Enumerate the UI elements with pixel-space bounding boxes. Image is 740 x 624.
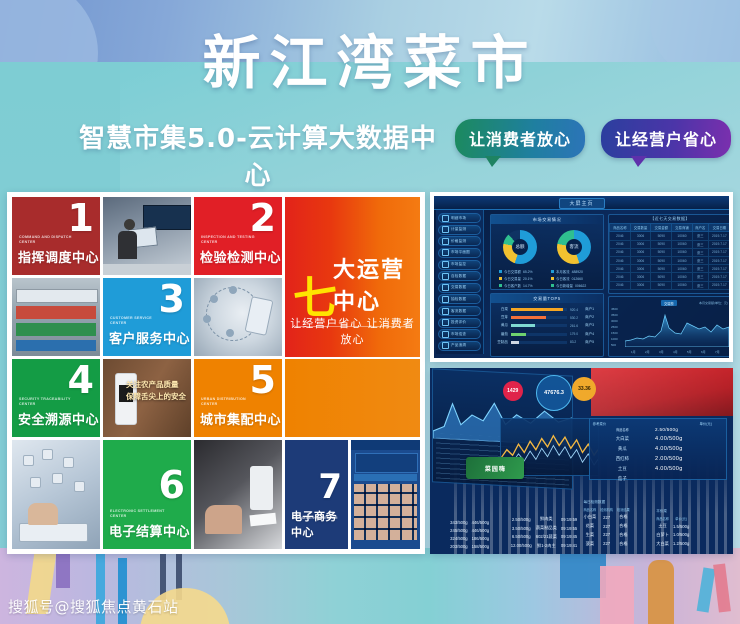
sidebar-label: 客流数据 [451,309,466,314]
reference-price-panel: 参考菜价 单价(元) 商品名称 2.50/500g 大白菜 4.00/500g … [589,418,727,480]
table-row: 花菜227合格 [582,522,632,531]
bar-row: 番茄 179.0 商户4 [495,332,599,337]
cell: 张三 [692,248,708,256]
cell: 合格 [615,530,632,539]
center-number: 1 [68,199,94,237]
cell: 3006 [630,240,651,248]
sidebar-item-patrol[interactable]: 市场巡查 [438,329,481,339]
cell: 张三 [692,265,708,273]
bar-row: 豆芽 530.2 商户2 [495,315,599,320]
cell: 菠菜 [582,539,599,548]
dashboard-screen-top: 大屏主页 明细市场 计量监测 价格监测 市场平面图 市场监控 自检数据 交易数据… [434,196,729,358]
table-row: 20463006509010060张三2019.7.17 [610,248,730,256]
bar-name: 黄瓜 [495,323,508,328]
bar-user: 商户5 [585,340,599,345]
bar-row: 黄瓜 261.6 商户3 [495,323,599,328]
sidebar-item-floorplan[interactable]: 市场平面图 [438,248,481,258]
y-tick: 3000 [611,319,618,323]
price-panel-header: 参考菜价 [593,421,607,426]
bar-user: 商户2 [585,315,599,320]
center-card-5[interactable]: 5 URBAN DISTRIBUTION CENTER 城市集配中心 [194,359,282,437]
table-header-row: 商品名称 检测机构 检测结果 [582,506,632,513]
table-row: 20463006509010060张三2019.7.17 [610,256,730,264]
price-row: 黄瓜 4.00/500g [590,446,726,452]
cell: 3006 [630,265,651,273]
legend-entry: 今日客户数14.7% [499,283,533,288]
center-number: 6 [159,466,185,504]
avatar-node [30,477,41,488]
page-subtitle: 智慧市集5.0-云计算大数据中心 [72,118,444,192]
sidebar-label: 明细市场 [451,216,466,221]
price-value: 4.00/500g [655,466,726,472]
sidebar-item-selftest[interactable]: 自检数据 [438,271,481,281]
sidebar-item-measure[interactable]: 计量监测 [438,225,481,235]
area-series [625,315,729,347]
center-subtitle-en: COMMAND AND DISPATCH CENTER [19,235,77,245]
table-header: 商品名称 [582,506,599,513]
cell: 3006 [630,273,651,281]
bar-user: 商户3 [585,323,599,328]
table-header-row: 商品名称 单价(元) [654,515,691,522]
page-title: 新江湾菜市 [0,16,740,100]
cell: 1.0/500g [671,530,691,539]
cell: 鲜肉类 [534,515,559,524]
pie-panel: 市场交易情况 总额 客流 今日交易额65.2% 今日交易量20.1% 今日客户数… [490,214,604,290]
cell: 186/500g [470,534,491,542]
legend-value: 65.2% [523,270,533,274]
price-header-row: 商品名称 2.50/500g [590,427,726,432]
avatar-node [74,481,85,492]
area-chart-tag: 交易额 [661,300,677,306]
sidebar-item-surveillance[interactable]: 市场监控 [438,260,481,270]
legend-left: 今日交易额65.2% 今日交易量20.1% 今日客户数14.7% [499,269,533,288]
table-row: 3.50/500g蔬菜制品类09:19:55 [509,524,579,533]
cell: 白萝卜 [654,530,671,539]
legend-value: 012660 [572,277,583,281]
price-row: 土豆 4.00/500g [590,466,726,472]
pos-readout [355,453,418,472]
donut-chart-traffic: 客流 [557,230,591,264]
bar-track [511,324,567,327]
photo-command-room [103,197,191,275]
legend-entry: 今日交易额65.2% [499,269,533,274]
bar-user: 商户4 [585,332,599,337]
promo-tagline: 让经营户省心 让消费者放心 [285,315,420,347]
sidebar-label: 交易数据 [451,285,466,290]
cell: 2019.7.17 [708,232,729,240]
bar-value: 920.4 [570,308,582,312]
sidebar-label: 价格监测 [451,239,466,244]
cell: 10060 [672,281,693,289]
cell: 土豆 [654,522,671,531]
cell: 2019.7.17 [708,265,729,273]
table-row: 菠菜227合格 [582,539,632,548]
cell: 2046 [610,232,631,240]
cell: 张三 [692,281,708,289]
bar-track [511,316,567,319]
y-tick: 1500 [611,331,618,335]
hand-shape [28,503,58,525]
operator-body [118,231,137,259]
cell: 5090 [651,232,672,240]
cell: 12.00/500g [509,541,534,550]
daily-test-table: 每日检测数据 商品名称 检测机构 检测结果 小白菜227合格 花菜227合格 生… [582,499,632,548]
table-row: 20463006509010060张三2019.7.17 [610,240,730,248]
bar-list: 白菜 920.4 商户1 豆芽 530.2 商户2 黄瓜 261. [495,307,599,345]
legend-swatch [551,270,554,273]
center-title-cn: 城市集配中心 [200,409,281,428]
table-header: 交易商铺 [672,224,693,232]
legend-entry: 今日客流012660 [551,276,586,281]
cell: 2019.7.17 [708,240,729,248]
avatar-node [23,455,34,466]
cell: 2019.7.17 [708,248,729,256]
cell: 602/21蔬菜 [534,532,559,541]
bar-value: 261.6 [570,324,582,328]
legend-entry: 今日交易量20.1% [499,276,533,281]
cell: 10060 [672,256,693,264]
legend-value: 20.1% [523,277,533,281]
cell: 3006 [630,248,651,256]
leaf-icon [442,342,449,349]
price-value: 4.00/500g [655,436,726,442]
bar-panel: 交易量TOP5 白菜 920.4 商户1 豆芽 530.2 商户2 [490,293,604,357]
bar-row: 豆制品 83.2 商户5 [495,340,599,345]
pos-tabbar [354,474,417,482]
sidebar-label: 市场监控 [451,262,466,267]
avatar-node [52,473,63,484]
pos-product-grid [354,484,417,541]
bar-row: 白菜 920.4 商户1 [495,307,599,312]
donut-center-label: 总额 [503,230,537,264]
center-number: 7 [318,470,342,504]
table-row: 20463006509010060张三2019.7.17 [610,232,730,240]
legend-swatch [551,277,554,280]
sidebar-label: 投资评价 [451,320,466,325]
x-tick: 3月 [659,350,664,354]
legend-right: 本月客流488920 今日客流012660 今日新增量006622 [551,269,586,288]
center-card-6[interactable]: 6 ELECTRONIC SETTLEMENT CENTER 电子结算中心 [103,440,191,549]
center-subtitle-en: SECURITY TRACEABILITY CENTER [19,397,77,407]
cell: 10060 [672,248,693,256]
kpi-bubble-left: 1429 [503,381,523,401]
x-tick: 6月 [701,350,706,354]
area-chart-note: 本月交易额(单位：元) [699,301,728,305]
center-card-2[interactable]: 2 INSPECTION AND TESTING CENTER 检验检测中心 [194,197,282,275]
photo-ecommerce-screen [351,440,420,549]
legend-value: 006622 [575,284,586,288]
cell: 324/500g [448,534,469,542]
legend-swatch [499,284,502,287]
header-badges: 让消费者放心 让经营户省心 [455,119,731,158]
scale-icon [442,226,449,233]
cell: 3006 [630,256,651,264]
bar-track [511,308,567,311]
table-row: 20463006509010060张三2019.7.17 [610,265,730,273]
table-header: 检测结果 [615,506,632,513]
cell: 5090 [651,265,672,273]
cell: 10060 [672,232,693,240]
legend-label: 本月客流 [556,269,570,274]
center-subtitle-en: ELECTRONIC SETTLEMENT CENTER [110,509,168,519]
table-panel: 【近七天交易数据】 商品名称 交易数量 交易金额 交易商铺 商户名 交易日期 2… [608,214,729,294]
price-name: 西红柿 [590,456,655,462]
promo-text: 大运营中心 [333,252,420,316]
photo-overlay-text: 关注农产品质量 保障舌尖上的安全 [126,379,186,402]
watermark: 搜狐号@搜狐焦点黄石站 [8,596,179,617]
donut-center-label: 客流 [557,230,591,264]
brand-logo-badge: 菜园嗨 [466,457,524,479]
legend-entry: 本月客流488920 [551,269,586,274]
cell: 小白菜 [582,513,599,522]
sidebar-item-trace[interactable]: 产品追溯 [438,341,481,351]
cell: 合格 [615,522,632,531]
bar-track [511,341,567,344]
center-card-3[interactable]: 3 CUSTOMER SERVICE CENTER 客户服务中心 [103,278,191,356]
grid-icon [442,215,449,222]
left-price-log-table: 343/500g446/500g 245/500g446/500g 324/50… [448,519,491,550]
cell: 446/500g [470,527,491,535]
operator-head [124,219,135,230]
center-card-5-extension [285,359,420,437]
bar-fill [511,316,546,319]
pos-header-bar [351,440,420,450]
badge-consumer: 让消费者放心 [455,119,585,158]
table-header: 交易日期 [708,224,729,232]
price-panel-unit: 单价(元) [700,421,712,426]
price-row: 西红柿 2.00/500g [590,456,726,462]
photo-market-shelves [12,278,100,356]
deco-shape-i [600,566,634,624]
x-tick: 2月 [645,350,650,354]
cell: 10060 [672,240,693,248]
deco-shape-k [697,567,716,612]
y-tick: 500 [611,343,616,347]
table-row: 20463006509010060张三2019.7.17 [610,281,730,289]
overlay-line-1: 关注农产品质量 [126,380,179,389]
cell: 张三 [692,240,708,248]
cheap-table-title: 平价菜 [654,508,691,515]
dashboard-panel-top: 大屏主页 明细市场 计量监测 价格监测 市场平面图 市场监控 自检数据 交易数据… [430,192,733,362]
sidebar-label: 计量监测 [451,227,466,232]
bar-fill [511,333,526,336]
sidebar-label: 产品追溯 [451,343,466,348]
shelf-row-2 [16,306,97,318]
hand-shape [205,505,242,533]
bar-fill [511,341,519,344]
cell: 3006 [630,232,651,240]
center-title-cn: 电子商务中心 [291,508,348,540]
bar-name: 白菜 [495,307,508,312]
bar-panel-title: 交易量TOP5 [491,294,603,303]
legend-label: 今日交易量 [504,276,521,281]
cell: 10060 [672,273,693,281]
cell: 1.2/500g [671,539,691,548]
cell: 09:19:55 [559,524,579,533]
cell: 2046 [610,248,631,256]
cell: 1.5/500g [671,522,691,531]
sidebar-item-price[interactable]: 价格监测 [438,236,481,246]
cell: 245/500g [448,527,469,535]
table-row: 白萝卜1.0/500g [654,530,691,539]
city-banner-gloss [591,368,733,416]
legend-label: 今日客流 [556,276,570,281]
sidebar-label: 自检数据 [451,274,466,279]
table-row: 245/500g446/500g [448,527,491,535]
floor-strip [103,264,191,275]
x-tick: 1月 [631,350,636,354]
center-card-4[interactable]: 4 SECURITY TRACEABILITY CENTER 安全溯源中心 [12,359,100,437]
cell: 09:19:59 [559,515,579,524]
price-name: 大白菜 [590,436,655,442]
legend-value: 488920 [572,270,583,274]
flask-icon [442,273,449,280]
center-number: 4 [68,361,94,399]
center-title-cn: 指挥调度中心 [18,247,99,266]
cell: 合格 [615,513,632,522]
center-title-cn: 检验检测中心 [200,247,281,266]
cell: 227 [598,522,615,531]
cell: 张三 [692,273,708,281]
table-header: 单价(元) [671,515,691,522]
poster-canvas: 新江湾菜市 智慧市集5.0-云计算大数据中心 让消费者放心 让经营户省心 1 C… [0,0,740,624]
cell: 2046 [610,240,631,248]
deco-shape-l [713,563,731,612]
cell: 2046 [610,273,631,281]
center-number: 3 [159,280,185,318]
pos-device [250,466,273,510]
price-value: 2.00/500g [655,456,726,462]
cell: 2019.7.17 [708,273,729,281]
dashboard-screen-bottom: 1429 47676.3 33.36 菜园嗨 参考菜价 单价(元) 商品名称 2… [430,368,733,554]
legend-label: 今日交易额 [504,269,521,274]
donut-chart-total: 总额 [503,230,537,264]
cell: 5090 [651,273,672,281]
x-tick: 5月 [687,350,692,354]
price-row: 茄子 [590,476,726,482]
center-card-1[interactable]: 1 COMMAND AND DISPATCH CENTER 指挥调度中心 [12,197,100,275]
cell: 大白菜 [654,539,671,548]
tech-node-a [210,295,218,303]
bar-value: 530.2 [570,316,582,320]
cell: 5090 [651,248,672,256]
table-row: 203/500g158/500g [448,542,491,550]
cell: 2019.7.17 [708,256,729,264]
table-row: 大白菜1.2/500g [654,539,691,548]
table-header: 商品名称 [610,224,631,232]
avatar-node [42,449,53,460]
sidebar-item-traffic[interactable]: 客流数据 [438,306,481,316]
table-header: 交易数量 [630,224,651,232]
price-row: 大白菜 4.00/500g [590,436,726,442]
table-row: 343/500g446/500g [448,519,491,527]
sidebar-item-trade[interactable]: 交易数据 [438,283,481,293]
table-header: 检测机构 [598,506,615,513]
sidebar-item-market[interactable]: 明细市场 [438,213,481,223]
price-col-name: 商品名称 [590,427,655,432]
photo-smart-phone-tech [194,278,282,356]
table-row: 生菜227合格 [582,530,632,539]
cell: 6.50/500g [509,532,534,541]
deco-shape-j [648,560,674,624]
deco-shape-b [56,548,70,588]
cell: 343/500g [448,519,469,527]
centers-grid: 1 COMMAND AND DISPATCH CENTER 指挥调度中心 2 I… [12,197,420,549]
avatar-node [63,457,74,468]
center-card-7[interactable]: 7 E-COMMERCE CENTER 电子商务中心 [285,440,348,549]
legend-swatch [499,270,502,273]
dashboard-sidebar: 明细市场 计量监测 价格监测 市场平面图 市场监控 自检数据 交易数据 抽检数据… [436,210,484,354]
center-title-cn: 客户服务中心 [109,328,190,347]
user-icon [442,308,449,315]
cell: 生菜 [582,530,599,539]
trade-log-table: 2.50/500g鲜肉类09:19:59 3.50/500g蔬菜制品类09:19… [509,515,579,550]
cell: 2046 [610,265,631,273]
y-tick: 2500 [611,325,618,329]
table-row: 20463006509010060张三2019.7.17 [610,273,730,281]
laptop-base [19,523,88,542]
cell: 10060 [672,265,693,273]
bar-name: 番茄 [495,332,508,337]
cell: 张三 [692,232,708,240]
cell: 张三 [692,256,708,264]
sidebar-item-rating[interactable]: 投资评价 [438,318,481,328]
legend-swatch [551,284,554,287]
sidebar-item-sampling[interactable]: 抽检数据 [438,294,481,304]
star-icon [442,319,449,326]
table-header: 商品名称 [654,515,671,522]
centers-grid-panel: 1 COMMAND AND DISPATCH CENTER 指挥调度中心 2 I… [7,192,425,554]
cell: 09:19:41 [559,541,579,550]
dashboard-title: 大屏主页 [558,198,604,209]
tag-icon [442,238,449,245]
cell: 3.50/500g [509,524,534,533]
cell: 09:19:45 [559,532,579,541]
table-header: 商户名 [692,224,708,232]
overlay-line-2: 保障舌尖上的安全 [126,392,186,401]
cell: 鲜1-2肉主 [534,541,559,550]
cell: 3006 [630,281,651,289]
table-header-row: 商品名称 交易数量 交易金额 交易商铺 商户名 交易日期 [610,224,730,232]
price-value: 4.00/500g [655,446,726,452]
cell: 227 [598,530,615,539]
bar-track [511,333,567,336]
table-row: 12.00/500g鲜1-2肉主09:19:41 [509,541,579,550]
center-subtitle-en: URBAN DISTRIBUTION CENTER [201,397,259,407]
badge-merchant: 让经营户省心 [601,119,731,158]
bar-user: 商户1 [585,307,599,312]
bar-fill [511,308,563,311]
table-row: 2.50/500g鲜肉类09:19:59 [509,515,579,524]
y-tick: 3500 [611,313,618,317]
y-tick: 4500 [611,307,618,311]
photo-qr-traceability: 关注农产品质量 保障舌尖上的安全 [103,359,191,437]
photo-payment-terminal [194,440,282,549]
cell: 5090 [651,281,672,289]
center-number: 2 [250,199,276,237]
chart-icon [442,284,449,291]
cell: 2.50/500g [509,515,534,524]
sidebar-label: 抽检数据 [451,297,466,302]
table-header: 交易金额 [651,224,672,232]
table-row: 土豆1.5/500g [654,522,691,531]
table-row: 6.50/500g602/21蔬菜09:19:45 [509,532,579,541]
sidebar-label: 市场巡查 [451,332,466,337]
cell: 蔬菜制品类 [534,524,559,533]
bar-name: 豆制品 [495,340,508,345]
map-icon [442,249,449,256]
legend-label: 今日客户数 [504,283,521,288]
